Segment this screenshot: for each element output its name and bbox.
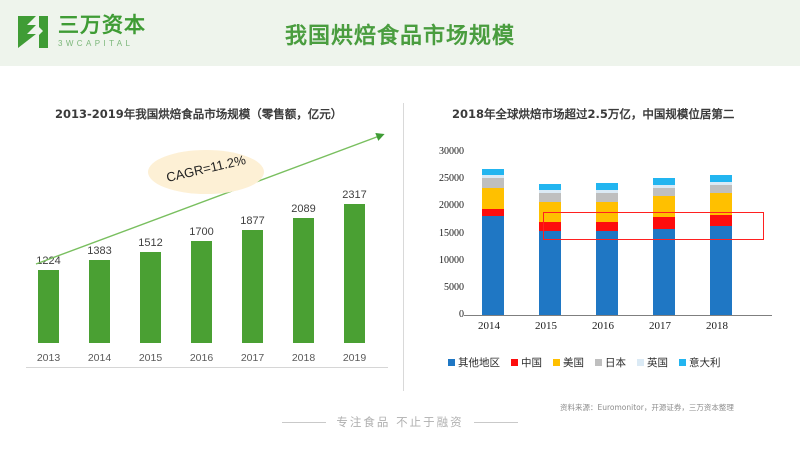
right-x-label-2014: 2014 <box>459 320 519 332</box>
y-tick-25000: 25000 <box>418 173 464 184</box>
segment-2015-日本 <box>539 193 561 202</box>
segment-2017-日本 <box>653 188 675 196</box>
stacked-bar-2015 <box>539 184 561 315</box>
right-chart-title: 2018年全球烘焙市场超过2.5万亿，中国规模位居第二 <box>452 106 734 122</box>
stacked-bar-2018 <box>710 175 732 315</box>
legend-swatch-icon <box>448 359 455 366</box>
left-bar-2015 <box>140 252 161 343</box>
segment-2016-日本 <box>596 193 618 202</box>
segment-2016-意大利 <box>596 183 618 191</box>
legend-swatch-icon <box>511 359 518 366</box>
left-chart-title: 2013-2019年我国烘焙食品市场规模（零售额，亿元） <box>55 106 342 122</box>
segment-2018-日本 <box>710 185 732 194</box>
segment-2015-其他地区 <box>539 231 561 315</box>
left-bar-value-2019: 2317 <box>325 189 385 201</box>
left-bar-value-2016: 1700 <box>172 226 232 238</box>
segment-2016-其他地区 <box>596 231 618 315</box>
segment-2014-美国 <box>482 188 504 209</box>
segment-2014-日本 <box>482 178 504 188</box>
y-tick-5000: 5000 <box>418 282 464 293</box>
left-x-label-2019: 2019 <box>325 352 385 364</box>
legend-label: 美国 <box>563 355 584 370</box>
legend-item-英国[interactable]: 英国 <box>637 355 668 370</box>
right-x-label-2017: 2017 <box>630 320 690 332</box>
stacked-bar-2016 <box>596 183 618 315</box>
left-bar-2017 <box>242 230 263 343</box>
legend-swatch-icon <box>679 359 686 366</box>
left-bar-2016 <box>191 241 212 343</box>
legend-label: 中国 <box>521 355 542 370</box>
segment-2017-其他地区 <box>653 229 675 315</box>
legend-item-美国[interactable]: 美国 <box>553 355 584 370</box>
left-axis-baseline <box>26 367 388 368</box>
left-bar-2019 <box>344 204 365 343</box>
legend-swatch-icon <box>553 359 560 366</box>
left-bar-value-2017: 1877 <box>223 215 283 227</box>
segment-2018-意大利 <box>710 175 732 183</box>
left-bar-chart: 1224201313832014151220151700201618772017… <box>20 128 398 390</box>
segment-2017-意大利 <box>653 178 675 186</box>
footer-tagline: 专注食品 不止于融资 <box>336 414 463 430</box>
stacked-bar-2014 <box>482 169 504 315</box>
slide-header: 三万资本 3WCAPITAL 我国烘焙食品市场规模 <box>0 0 800 66</box>
legend-item-其他地区[interactable]: 其他地区 <box>448 355 500 370</box>
left-bar-2013 <box>38 270 59 343</box>
footer-rule-right <box>474 422 518 423</box>
legend-label: 意大利 <box>689 355 721 370</box>
right-axis-baseline <box>464 315 772 316</box>
legend-swatch-icon <box>637 359 644 366</box>
footer-rule-left <box>282 422 326 423</box>
stacked-bar-2017 <box>653 178 675 315</box>
legend-item-中国[interactable]: 中国 <box>511 355 542 370</box>
legend-swatch-icon <box>595 359 602 366</box>
left-bar-value-2015: 1512 <box>121 237 181 249</box>
legend-item-日本[interactable]: 日本 <box>595 355 626 370</box>
legend-label: 其他地区 <box>458 355 500 370</box>
slide-footer: 专注食品 不止于融资 <box>0 414 800 430</box>
legend-item-意大利[interactable]: 意大利 <box>679 355 721 370</box>
page-title: 我国烘焙食品市场规模 <box>0 18 800 50</box>
left-bar-2014 <box>89 260 110 343</box>
y-tick-20000: 20000 <box>418 200 464 211</box>
source-note: 资料来源：Euromonitor，开源证券，三万资本整理 <box>560 402 734 413</box>
legend-label: 日本 <box>605 355 626 370</box>
y-tick-30000: 30000 <box>418 146 464 157</box>
highlight-rectangle <box>543 212 764 240</box>
right-chart-legend: 其他地区中国美国日本英国意大利 <box>448 355 721 370</box>
legend-label: 英国 <box>647 355 668 370</box>
right-x-label-2016: 2016 <box>573 320 633 332</box>
segment-2014-其他地区 <box>482 216 504 315</box>
y-tick-15000: 15000 <box>418 228 464 239</box>
right-x-label-2015: 2015 <box>516 320 576 332</box>
slide-canvas: 三万资本 3WCAPITAL 我国烘焙食品市场规模 2013-2019年我国烘焙… <box>0 0 800 450</box>
left-bar-value-2018: 2089 <box>274 203 334 215</box>
y-tick-0: 0 <box>418 309 464 320</box>
panel-divider <box>403 103 404 391</box>
left-bar-2018 <box>293 218 314 343</box>
y-tick-10000: 10000 <box>418 255 464 266</box>
right-x-label-2018: 2018 <box>687 320 747 332</box>
